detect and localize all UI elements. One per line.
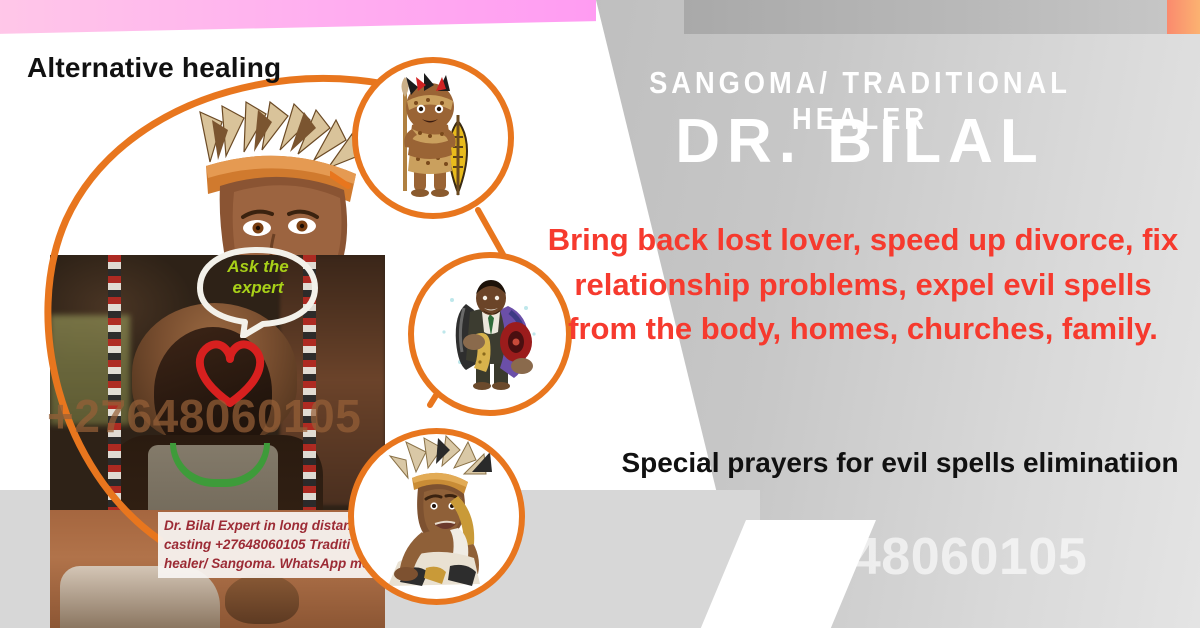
zulu-warrior-illustration	[358, 63, 508, 213]
poster-canvas: Alternative healing	[0, 0, 1200, 628]
top-pink-strip	[0, 0, 596, 34]
caption-line-3: healer/ Sangoma. WhatsApp me	[164, 554, 382, 573]
ask-the-expert-label: Ask the expert	[208, 256, 308, 299]
circle-zulu-warrior	[352, 57, 514, 219]
circle-crouching-healer	[348, 428, 525, 605]
main-title: DR. BILAL	[540, 106, 1180, 177]
services-text: Bring back lost lover, speed up divorce,…	[545, 218, 1181, 352]
top-gray-strip	[684, 0, 1168, 34]
top-salmon-strip	[1167, 0, 1200, 34]
photo-beaded-strand-left	[108, 255, 121, 510]
prayers-text: Special prayers for evil spells eliminat…	[610, 443, 1190, 483]
caption-line-2: casting +27648060105 Traditi	[164, 535, 382, 554]
page-title: Alternative healing	[27, 52, 281, 84]
healer-with-shield-illustration	[414, 258, 566, 410]
photo-pot	[225, 574, 299, 624]
crouching-healer-illustration	[354, 434, 519, 599]
contact-phone-watermark: +27648060105	[620, 527, 1200, 587]
